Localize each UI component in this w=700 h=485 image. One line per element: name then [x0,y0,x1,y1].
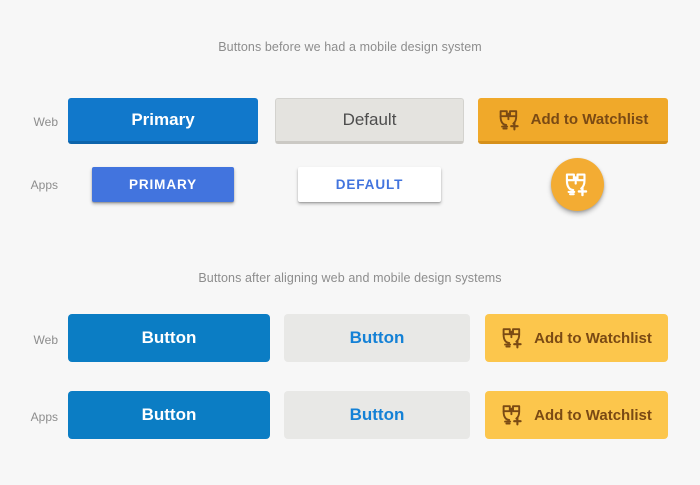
legacy-app-add-to-watchlist-fab[interactable] [551,158,604,211]
legacy-web-add-to-watchlist-label: Add to Watchlist [531,111,649,128]
new-web-add-to-watchlist-label: Add to Watchlist [534,330,652,347]
legacy-app-primary-label: PRIMARY [129,177,197,192]
add-to-watchlist-icon [501,327,525,349]
new-web-secondary-label: Button [350,328,405,348]
row-label-web-legacy: Web [0,115,58,129]
new-web-primary-button[interactable]: Button [68,314,270,362]
new-app-secondary-button[interactable]: Button [284,391,470,439]
row-label-apps-new: Apps [0,410,58,424]
section-caption-after: Buttons after aligning web and mobile de… [0,271,700,285]
add-to-watchlist-icon [564,172,591,197]
legacy-web-add-to-watchlist-button[interactable]: Add to Watchlist [478,98,668,144]
row-label-apps-legacy: Apps [0,178,58,192]
legacy-web-primary-label: Primary [131,110,194,130]
add-to-watchlist-icon [498,109,522,131]
new-app-secondary-label: Button [350,405,405,425]
new-web-secondary-button[interactable]: Button [284,314,470,362]
new-web-primary-label: Button [142,328,197,348]
legacy-web-default-label: Default [343,110,397,130]
legacy-web-default-button[interactable]: Default [275,98,464,144]
new-app-add-to-watchlist-button[interactable]: Add to Watchlist [485,391,668,439]
legacy-app-primary-button[interactable]: PRIMARY [92,167,234,202]
add-to-watchlist-icon [501,404,525,426]
legacy-app-default-label: DEFAULT [336,177,404,192]
new-web-add-to-watchlist-button[interactable]: Add to Watchlist [485,314,668,362]
new-app-add-to-watchlist-label: Add to Watchlist [534,407,652,424]
row-label-web-new: Web [0,333,58,347]
new-app-primary-button[interactable]: Button [68,391,270,439]
legacy-app-default-button[interactable]: DEFAULT [298,167,441,202]
screenshot-canvas: Buttons before we had a mobile design sy… [0,0,700,485]
new-app-primary-label: Button [142,405,197,425]
legacy-web-primary-button[interactable]: Primary [68,98,258,144]
section-caption-before: Buttons before we had a mobile design sy… [0,40,700,54]
